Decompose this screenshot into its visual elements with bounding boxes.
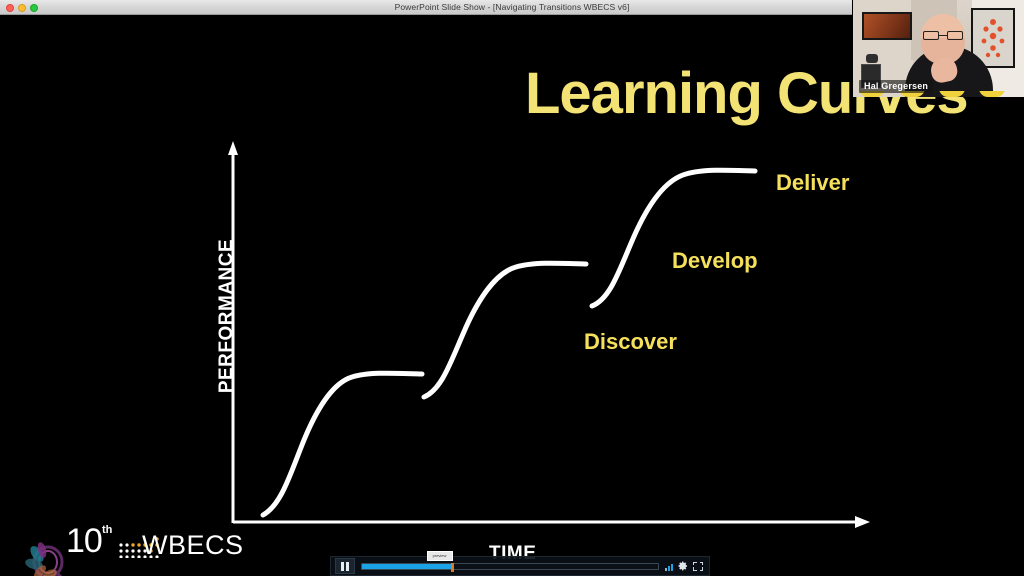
fullscreen-icon[interactable]	[693, 562, 703, 571]
curve-label-develop: Develop	[672, 248, 758, 274]
chart-svg	[0, 115, 900, 535]
learning-curves-chart	[0, 115, 900, 535]
wall-art-left	[862, 12, 912, 40]
zoom-button[interactable]	[30, 4, 38, 12]
gear-icon[interactable]	[678, 561, 688, 571]
curve-label-deliver: Deliver	[776, 170, 849, 196]
webcam-overlay[interactable]: Hal Gregersen	[852, 0, 1024, 97]
screenshot-root: PowerPoint Slide Show - [Navigating Tran…	[0, 0, 1024, 576]
glasses-icon	[923, 31, 963, 40]
curve-label-discover: Discover	[584, 329, 677, 355]
y-axis-label: PERFORMANCE	[216, 239, 238, 393]
logo-wordmark: WBECS	[142, 530, 244, 561]
lotus-flower-icon	[24, 540, 70, 576]
progress-track[interactable]	[361, 563, 659, 570]
wbecs-logo: 10 th WBECS	[24, 518, 210, 576]
logo-number: 10	[66, 524, 102, 558]
pause-button[interactable]	[335, 558, 355, 574]
minimize-button[interactable]	[18, 4, 26, 12]
curve-deliver	[592, 170, 755, 306]
progress-preview-thumbnail: preview	[427, 551, 453, 561]
progress-scrubber[interactable]	[451, 563, 454, 572]
preview-caption: preview	[433, 554, 447, 558]
curve-develop	[424, 263, 586, 397]
progress-bar[interactable]: preview	[361, 558, 659, 574]
curve-discover	[263, 373, 422, 515]
speaker-name-label: Hal Gregersen	[859, 80, 933, 93]
volume-icon[interactable]	[665, 562, 673, 571]
close-button[interactable]	[6, 4, 14, 12]
video-player-controls[interactable]: preview	[330, 556, 710, 576]
y-axis-arrowhead	[228, 141, 238, 155]
slide-stage: Learning Curves	[0, 15, 1024, 576]
player-right-controls	[665, 561, 705, 571]
logo-ordinal: th	[102, 524, 112, 536]
x-axis-arrowhead	[855, 516, 870, 528]
progress-fill	[362, 564, 451, 569]
window-controls	[6, 0, 38, 15]
